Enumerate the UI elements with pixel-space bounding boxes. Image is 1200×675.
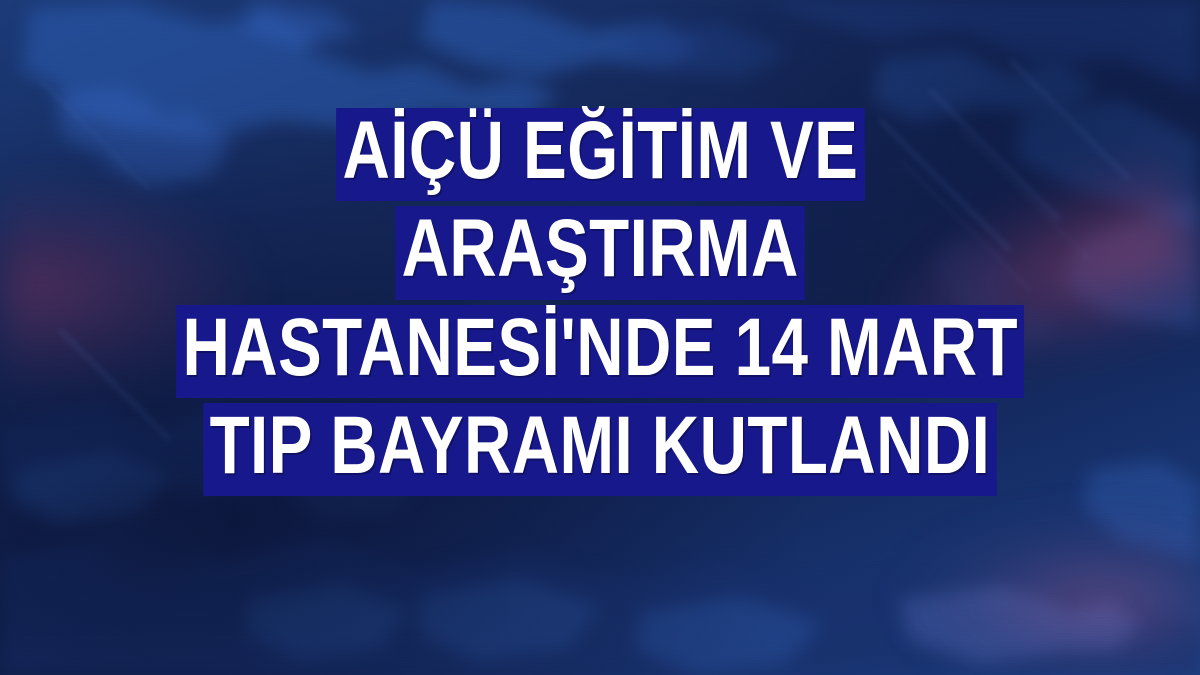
headline-line-2: ARAŞTIRMA [0,206,1200,299]
headline-line-2-text: ARAŞTIRMA [395,206,805,299]
headline-line-3-text: HASTANESİ'NDE 14 MART [176,305,1024,398]
headline-line-3: HASTANESİ'NDE 14 MART [0,305,1200,398]
headline-line-1: AİÇÜ EĞİTİM VE [0,108,1200,201]
news-banner-image: AİÇÜ EĞİTİM VE ARAŞTIRMA HASTANESİ'NDE 1… [0,0,1200,675]
headline-line-4-text: TIP BAYRAMI KUTLANDI [203,403,996,496]
headline-line-1-text: AİÇÜ EĞİTİM VE [336,108,865,201]
headline-line-4: TIP BAYRAMI KUTLANDI [0,403,1200,496]
headline: AİÇÜ EĞİTİM VE ARAŞTIRMA HASTANESİ'NDE 1… [0,108,1200,496]
